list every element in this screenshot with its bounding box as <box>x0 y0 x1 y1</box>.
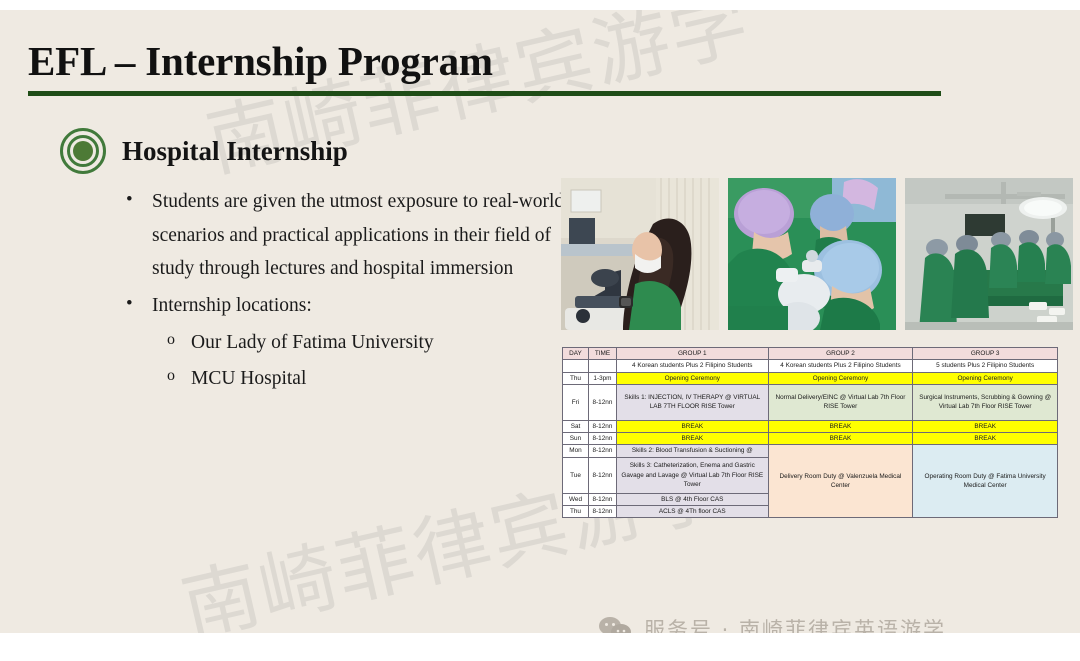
cell-group2: Opening Ceremony <box>768 372 913 384</box>
header-day: DAY <box>563 348 589 360</box>
cell-time: 8-12nn <box>588 420 616 432</box>
table-row-fri-skills1: Fri 8-12nn Skills 1: INJECTION, IV THERA… <box>563 384 1058 420</box>
cell-group2: Normal Delivery/EINC @ Virtual Lab 7th F… <box>768 384 913 420</box>
cell-day: Fri <box>563 384 589 420</box>
cell-group3-merged: Operating Room Duty @ Fatima University … <box>913 445 1058 518</box>
cell-group1: Skills 2: Blood Transfusion & Suctioning… <box>616 445 768 457</box>
cell-group1: Opening Ceremony <box>616 372 768 384</box>
cell-time: 8-12nn <box>588 384 616 420</box>
table-row-sun-break: Sun 8-12nn BREAK BREAK BREAK <box>563 433 1058 445</box>
table-row-sat-break: Sat 8-12nn BREAK BREAK BREAK <box>563 420 1058 432</box>
table-row-mon-skills2: Mon 8-12nn Skills 2: Blood Transfusion &… <box>563 445 1058 457</box>
table-row-thu-opening: Thu 1-3pm Opening Ceremony Opening Cerem… <box>563 372 1058 384</box>
title-block: EFL – Internship Program <box>28 38 948 96</box>
cell-group2: BREAK <box>768 420 913 432</box>
subheader-group2: 4 Korean students Plus 2 Filipino Studen… <box>768 360 913 372</box>
cell-time: 8-12nn <box>588 457 616 493</box>
photo-surgery-closeup <box>728 178 896 330</box>
header-group3: GROUP 3 <box>913 348 1058 360</box>
cell-group1: ACLS @ 4Th floor CAS <box>616 505 768 517</box>
cell-group1: BREAK <box>616 420 768 432</box>
cell-day: Sat <box>563 420 589 432</box>
page-title: EFL – Internship Program <box>28 38 948 85</box>
header-group1: GROUP 1 <box>616 348 768 360</box>
target-bullet-icon <box>60 128 106 174</box>
slide-canvas: 南崎菲律宾游学 南崎菲律宾游学 EFL – Internship Program… <box>0 10 1080 633</box>
header-time: TIME <box>588 348 616 360</box>
target-inner-ring <box>67 135 99 167</box>
cell-day: Sun <box>563 433 589 445</box>
cell-day: Tue <box>563 457 589 493</box>
title-underline-rule <box>28 91 941 96</box>
table-header-row: DAY TIME GROUP 1 GROUP 2 GROUP 3 <box>563 348 1058 360</box>
internship-schedule-table: DAY TIME GROUP 1 GROUP 2 GROUP 3 4 Korea… <box>562 347 1058 518</box>
header-group2: GROUP 2 <box>768 348 913 360</box>
cell-day: Wed <box>563 493 589 505</box>
cell-day: Thu <box>563 505 589 517</box>
cell-group1: Skills 1: INJECTION, IV THERAPY @ VIRTUA… <box>616 384 768 420</box>
cell-group1: BLS @ 4th Floor CAS <box>616 493 768 505</box>
cell-group3: Opening Ceremony <box>913 372 1058 384</box>
cell-group3: BREAK <box>913 433 1058 445</box>
sub-bullet-list: Our Lady of Fatima University MCU Hospit… <box>120 325 570 397</box>
cell-group2-merged: Delivery Room Duty @ Valenzuela Medical … <box>768 445 913 518</box>
bullet-item: Internship locations: <box>120 289 570 323</box>
wechat-icon <box>598 616 632 633</box>
cell-group1: BREAK <box>616 433 768 445</box>
subheader-time-blank <box>588 360 616 372</box>
cell-group1: Skills 3: Catheterization, Enema and Gas… <box>616 457 768 493</box>
table-subheader-row: 4 Korean students Plus 2 Filipino Studen… <box>563 360 1058 372</box>
bullet-list: Students are given the utmost exposure t… <box>120 185 570 397</box>
photo-operating-room <box>905 178 1073 330</box>
cell-time: 8-12nn <box>588 433 616 445</box>
cell-group3: BREAK <box>913 420 1058 432</box>
cell-time: 8-12nn <box>588 445 616 457</box>
footer-branding: 服务号 · 南崎菲律宾英语游学 <box>598 614 946 633</box>
section-heading-row: Hospital Internship <box>60 128 348 174</box>
cell-group3: Surgical Instruments, Scrubbing & Gownin… <box>913 384 1058 420</box>
subheader-group3: 5 students Plus 2 Filipino Students <box>913 360 1058 372</box>
cell-time: 8-12nn <box>588 493 616 505</box>
bullet-item: Students are given the utmost exposure t… <box>120 185 570 286</box>
cell-day: Mon <box>563 445 589 457</box>
photo-strip <box>561 178 1073 330</box>
sub-bullet-item: MCU Hospital <box>165 361 570 397</box>
subheader-group1: 4 Korean students Plus 2 Filipino Studen… <box>616 360 768 372</box>
footer-text: 服务号 · 南崎菲律宾英语游学 <box>644 614 946 633</box>
sub-bullet-item: Our Lady of Fatima University <box>165 325 570 361</box>
photo-microscope <box>561 178 719 330</box>
target-center-dot <box>73 141 93 161</box>
cell-time: 8-12nn <box>588 505 616 517</box>
subheader-day-blank <box>563 360 589 372</box>
cell-group2: BREAK <box>768 433 913 445</box>
section-heading-label: Hospital Internship <box>122 136 348 167</box>
cell-time: 1-3pm <box>588 372 616 384</box>
cell-day: Thu <box>563 372 589 384</box>
